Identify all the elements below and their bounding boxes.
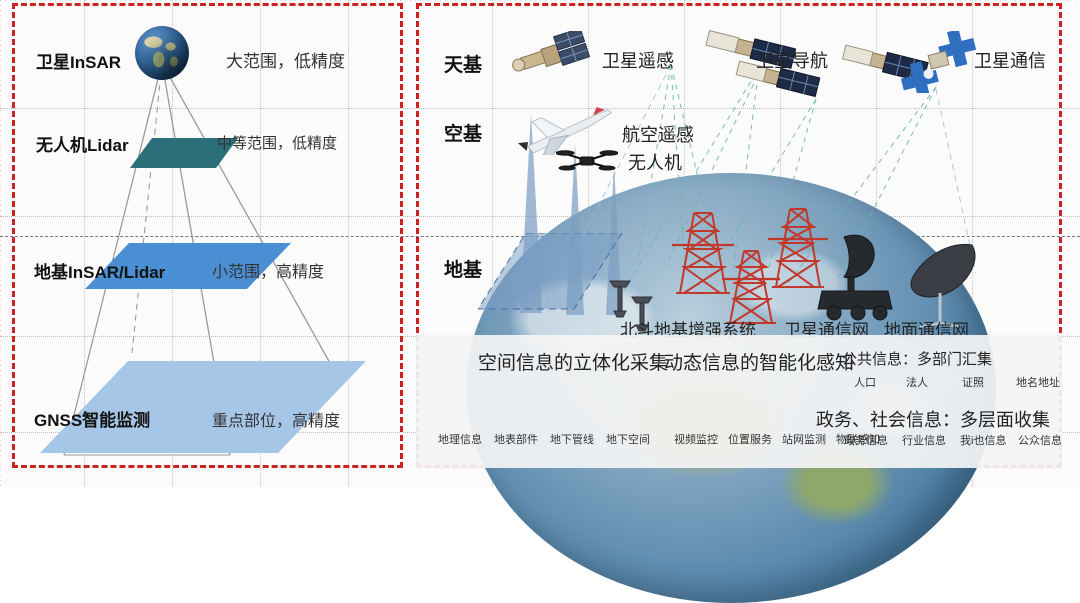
space-air-ground-integrated-network: 天基 卫星遥感 [416, 3, 1062, 468]
pyramid-level-label-uav-lidar: 无人机Lidar [36, 131, 129, 156]
info-tag-population: 人口 [854, 374, 876, 390]
caption-satellite-navigation: 卫星导航 [756, 47, 828, 73]
earth-globe-icon [135, 26, 189, 80]
info-tag-public-info: 公众信息 [1018, 432, 1062, 448]
info-tag-location-service: 位置服务 [728, 431, 772, 447]
caption-satellite-communication: 卫星通信 [974, 47, 1046, 73]
tier-label-air-based: 空基 [444, 119, 482, 146]
info-headline-public-info: 公共信息：多部门汇集 [842, 348, 992, 369]
caption-satellite-remote-sensing: 卫星遥感 [602, 47, 674, 73]
slide-canvas: 卫星InSAR 大范围，低精度 无人机Lidar 中等范围，低精度 地基InSA… [0, 0, 1080, 487]
info-tag-government-info: 政务信息 [844, 432, 888, 448]
info-tag-social-info: 我i也信息 [960, 432, 1006, 448]
info-tag-underground-space: 地下空间 [606, 431, 650, 447]
info-tag-industry-info: 行业信息 [902, 432, 946, 448]
info-tag-underground-pipelines: 地下管线 [550, 431, 594, 447]
caption-uav: 无人机 [628, 149, 682, 175]
pyramid-level-label-ground-insar: 地基InSAR/Lidar [34, 258, 165, 283]
info-tag-video-surveillance: 视频监控 [674, 431, 718, 447]
tier-label-space-based: 天基 [444, 50, 482, 77]
info-tag-surface-components: 地表部件 [494, 431, 538, 447]
parabolic-dish-icon [900, 239, 984, 327]
info-headline-spatial-collection: 空间信息的立体化采集 [478, 348, 668, 375]
pyramid-level-attr-satellite-insar: 大范围，低精度 [226, 47, 345, 72]
monitoring-accuracy-pyramid: 卫星InSAR 大范围，低精度 无人机Lidar 中等范围，低精度 地基InSA… [12, 3, 403, 468]
info-tag-legal-person: 法人 [906, 374, 928, 390]
info-tag-geo-information: 地理信息 [438, 431, 482, 447]
pyramid-level-label-satellite-insar: 卫星InSAR [36, 48, 121, 73]
pyramid-level-label-gnss: GNSS智能监测 [34, 406, 150, 431]
mobile-radar-icon [814, 229, 900, 321]
caption-aerial-remote-sensing: 航空遥感 [622, 121, 694, 147]
pyramid-level-attr-ground-insar: 小范围，高精度 [212, 258, 324, 282]
tier-label-ground-based: 地基 [444, 255, 482, 282]
pyramid-level-attr-gnss: 重点部位，高精度 [212, 407, 340, 431]
satellite-cross-icon [900, 31, 978, 93]
info-tag-place-name-address: 地名地址 [1016, 374, 1060, 390]
satellite-icon-remote-sensing [508, 31, 592, 85]
info-headline-government-social: 政务、社会信息：多层面收集 [816, 406, 1050, 432]
drone-icon [556, 145, 618, 175]
info-tag-certificate: 证照 [962, 374, 984, 390]
pyramid-level-attr-uav-lidar: 中等范围，低精度 [217, 132, 337, 153]
info-tag-station-monitoring: 站网监测 [782, 431, 826, 447]
info-headline-dynamic-sensing: 动态信息的智能化感知 [664, 348, 854, 375]
